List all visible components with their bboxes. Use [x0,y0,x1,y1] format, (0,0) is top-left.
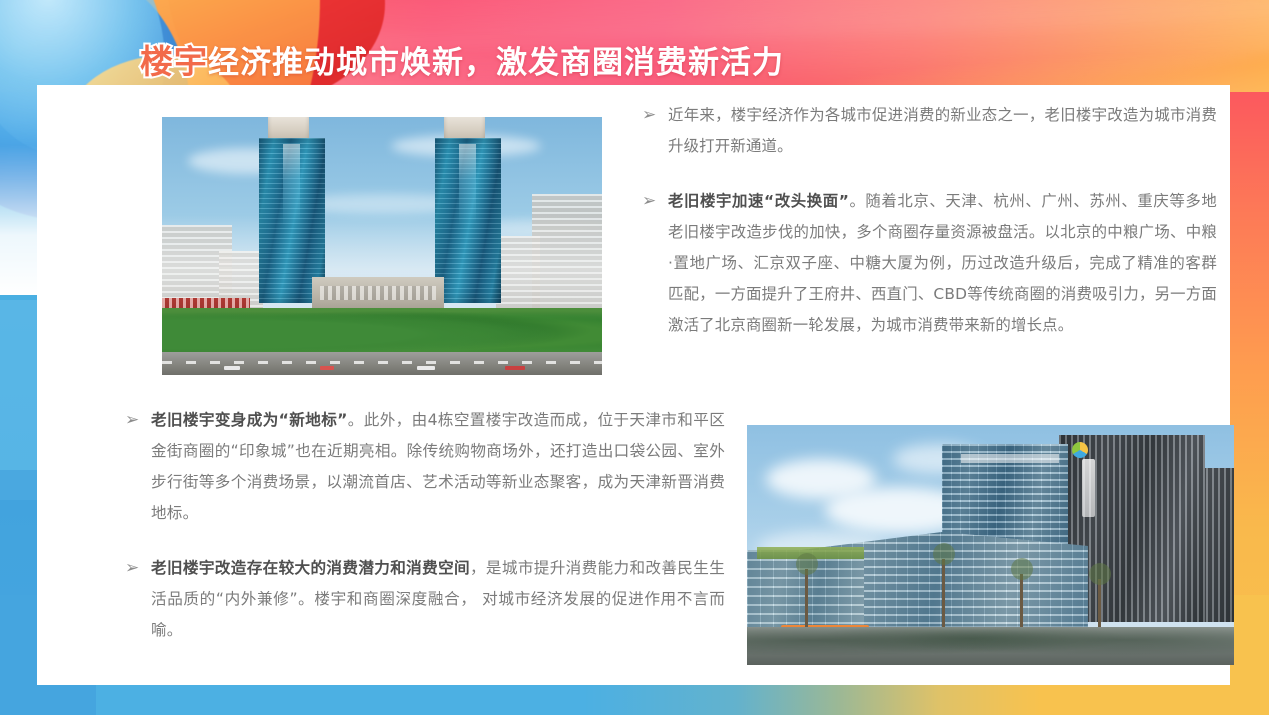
photo2-street-tree [942,559,945,631]
right-column-bullet-list: ➢ 近年来，楼宇经济作为各城市促进消费的新业态之一，老旧楼宇改造为城市消费升级打… [642,100,1217,341]
bullet-item: ➢ 老旧楼宇变身成为“新地标”。此外，由4栋空置楼宇改造而成，位于天津市和平区金… [125,405,725,529]
twin-blue-glass-towers-photo [162,117,602,375]
bullet-text: 老旧楼宇变身成为“新地标”。此外，由4栋空置楼宇改造而成，位于天津市和平区金街商… [151,405,725,529]
photo2-street-tree [1020,574,1023,632]
photo1-roadway [162,352,602,375]
photo1-vehicle [505,366,525,370]
photo1-vehicle [320,366,334,370]
slide-title: 楼宇 经济推动城市焕新，激发商圈消费新活力 [140,36,784,82]
bullet-body: 近年来，楼宇经济作为各城市促进消费的新业态之一，老旧楼宇改造为城市消费升级打开新… [668,106,1217,155]
photo2-brand-logo-icon [1072,442,1088,458]
bullet-text: 老旧楼宇加速“改头换面”。随着北京、天津、杭州、广州、苏州、重庆等多地老旧楼宇改… [668,186,1217,341]
bullet-bold-lead: 老旧楼宇改造存在较大的消费潜力和消费空间 [151,559,470,577]
photo2-ground-plaza [747,627,1234,665]
bullet-arrow-icon: ➢ [125,553,151,583]
presentation-slide: 楼宇 经济推动城市焕新，激发商圈消费新活力 [0,0,1269,715]
modern-glass-office-complex-photo [747,425,1234,665]
photo1-tower-reflection [283,144,300,223]
photo1-tree-line [162,308,602,352]
bullet-item: ➢ 老旧楼宇改造存在较大的消费潜力和消费空间，是城市提升消费能力和改善民生生活品… [125,553,725,646]
title-main-text: 经济推动城市焕新，激发商圈消费新活力 [208,37,784,82]
photo2-vertical-sign [1082,459,1095,517]
photo2-street-tree [1098,579,1101,632]
title-decorated-prefix: 楼宇 [140,35,208,83]
bullet-text: 老旧楼宇改造存在较大的消费潜力和消费空间，是城市提升消费能力和改善民生生活品质的… [151,553,725,646]
bullet-bold-lead: 老旧楼宇加速“改头换面” [668,192,849,210]
bullet-text: 近年来，楼宇经济作为各城市促进消费的新业态之一，老旧楼宇改造为城市消费升级打开新… [668,100,1217,162]
photo2-facade-signage-band [961,454,1058,464]
left-column-bullet-list: ➢ 老旧楼宇变身成为“新地标”。此外，由4栋空置楼宇改造而成，位于天津市和平区金… [125,405,725,646]
bullet-arrow-icon: ➢ [125,405,151,435]
photo1-tower-reflection [459,144,476,223]
bullet-bold-lead: 老旧楼宇变身成为“新地标” [151,411,348,429]
photo1-vehicle [417,366,435,370]
photo1-vehicle [224,366,240,370]
photo1-tower-right [435,138,501,303]
bullet-item: ➢ 老旧楼宇加速“改头换面”。随着北京、天津、杭州、广州、苏州、重庆等多地老旧楼… [642,186,1217,341]
content-card: ➢ 老旧楼宇变身成为“新地标”。此外，由4栋空置楼宇改造而成，位于天津市和平区金… [37,85,1230,685]
bullet-body: 。随着北京、天津、杭州、广州、苏州、重庆等多地老旧楼宇改造步伐的加快，多个商圈存… [668,192,1217,334]
bullet-arrow-icon: ➢ [642,186,668,216]
bullet-item: ➢ 近年来，楼宇经济作为各城市促进消费的新业态之一，老旧楼宇改造为城市消费升级打… [642,100,1217,162]
photo2-street-tree [805,569,808,631]
bullet-arrow-icon: ➢ [642,100,668,130]
